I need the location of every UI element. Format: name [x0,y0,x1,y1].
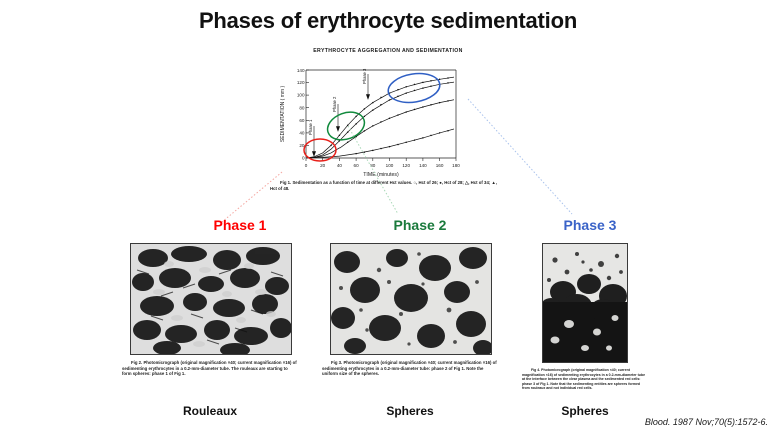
svg-text:60: 60 [354,163,360,168]
ellipse-phase-3 [386,70,442,106]
chart-ylabel: SEDIMENTATION ( mm ) [280,86,286,143]
phase-2-panel: Fig 3. Photomicrograph (original magnifi… [320,243,500,377]
svg-text:60: 60 [299,118,305,123]
sedimentation-chart: 0 20 40 60 80 100 120 140 SEDIMENTATION … [268,62,500,184]
phase-1-caption-lead: Fig 2. [122,360,142,365]
slide-canvas: Phases of erythrocyte sedimentation ERYT… [0,0,776,433]
bottom-label-spheres-2: Spheres [320,404,500,418]
bottom-label-rouleaux: Rouleaux [120,404,300,418]
phase-1-panel: Fig 2. Photomicrograph (original magnifi… [120,243,300,377]
series-hct-26 [306,77,456,158]
series-hct-28 [306,82,456,158]
chart-series-group [306,77,456,158]
ellipse-phase-2 [324,107,369,144]
svg-text:40: 40 [337,163,343,168]
chart-annotation-phase-3: Phase 3 [362,68,367,84]
figure-1-caption-lead: Fig 1. [270,180,291,185]
micrograph-spheres-phase3 [542,243,628,363]
svg-text:120: 120 [297,80,305,85]
svg-text:80: 80 [299,105,305,110]
svg-text:0: 0 [302,156,305,161]
micrograph-rouleaux [130,243,292,355]
chart-markers [330,77,449,154]
chart-annotation-phase-1: Phase 1 [308,119,313,135]
phase-1-caption: Fig 2. Photomicrograph (original magnifi… [122,360,298,377]
figure-1-caption: Fig 1. Sedimentation as a function of ti… [270,180,498,191]
phase-2-caption: Fig 3. Photomicrograph (original magnifi… [322,360,498,377]
phase-2-caption-body: Photomicrograph (original magnification … [322,360,497,376]
svg-text:100: 100 [297,93,305,98]
chart-xlabel: TIME (minutes) [363,172,399,178]
page-title: Phases of erythrocyte sedimentation [0,8,776,34]
svg-text:140: 140 [419,163,427,168]
phase-3-caption: Fig 4. Photomicrograph (original magnifi… [522,368,648,391]
svg-text:20: 20 [320,163,326,168]
phase-label-3: Phase 3 [500,217,680,233]
phase-2-caption-lead: Fig 3. [322,360,342,365]
svg-text:0: 0 [305,163,308,168]
figure-1-block: ERYTHROCYTE AGGREGATION AND SEDIMENTATIO… [268,48,500,208]
svg-text:140: 140 [297,68,305,73]
micrograph-spheres-phase2 [330,243,492,355]
chart-highlight-ellipses [304,70,442,161]
source-citation: Blood. 1987 Nov;70(5):1572-6. [645,417,768,427]
phase-3-caption-lead: Fig 4. [522,368,540,372]
bottom-label-spheres-3: Spheres [510,404,660,418]
phase-1-caption-body: Photomicrograph (original magnification … [122,360,297,376]
chart-title: ERYTHROCYTE AGGREGATION AND SEDIMENTATIO… [276,48,500,54]
chart-annotation-phase-2: Phase 2 [332,96,337,112]
phase-3-panel: Fig 4. Photomicrograph (original magnifi… [520,243,650,391]
chart-axes [306,70,456,158]
svg-text:40: 40 [299,131,305,136]
phase-3-caption-body: Photomicrograph (original magnification … [522,368,645,390]
svg-text:80: 80 [370,163,376,168]
svg-text:100: 100 [386,163,394,168]
phase-label-1: Phase 1 [150,217,330,233]
figure-1-caption-body: Sedimentation as a function of time at d… [270,180,497,191]
svg-text:120: 120 [402,163,410,168]
svg-text:180: 180 [452,163,460,168]
phase-label-2: Phase 2 [330,217,510,233]
svg-text:160: 160 [436,163,444,168]
